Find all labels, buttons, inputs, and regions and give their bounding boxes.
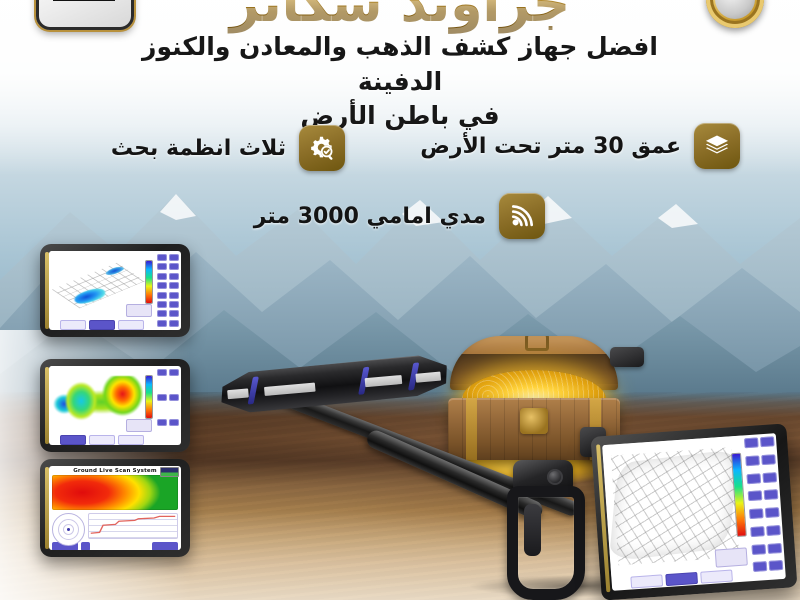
app-logo-icon: [160, 467, 179, 477]
keypad-key[interactable]: [745, 455, 760, 466]
plot-wrapper: [602, 435, 752, 590]
toolbar-button[interactable]: [60, 320, 86, 330]
grip-handle: [507, 486, 585, 600]
start-button[interactable]: [152, 542, 178, 550]
live-heatmap: [52, 475, 178, 510]
keypad-key[interactable]: [169, 310, 179, 317]
plot-wrapper: [49, 251, 155, 330]
toolbar-button[interactable]: [700, 569, 733, 583]
keypad-key[interactable]: [157, 263, 167, 270]
toolbar-button[interactable]: [89, 435, 115, 445]
keypad-key[interactable]: [762, 472, 777, 483]
keypad-key[interactable]: [169, 254, 179, 261]
chest-handle: [525, 336, 549, 351]
tablet-bottom-toolbar[interactable]: [49, 319, 155, 330]
live-readout-row: [52, 513, 178, 539]
tablet-screen: [49, 366, 181, 445]
keypad-key[interactable]: [769, 560, 784, 571]
toolbar-button[interactable]: [118, 320, 144, 330]
search-coil-bar: [217, 353, 450, 415]
radar-target-dot: [67, 528, 70, 531]
keypad-key[interactable]: [750, 526, 765, 537]
signal-waves-icon: [499, 193, 545, 239]
settings-button[interactable]: [81, 542, 90, 550]
color-scale-bar: [146, 261, 152, 303]
feature-label-depth: عمق 30 متر تحت الأرض: [420, 134, 681, 159]
keypad-key[interactable]: [765, 507, 780, 518]
keypad-key[interactable]: [169, 273, 179, 280]
keypad-key[interactable]: [169, 301, 179, 308]
keypad-key[interactable]: [748, 490, 763, 501]
keypad-key[interactable]: [157, 419, 167, 426]
plot-legend-box: [715, 547, 748, 567]
keypad-key[interactable]: [157, 282, 167, 289]
scan-plot-3d-main[interactable]: [602, 435, 751, 576]
keypad-key[interactable]: [157, 292, 167, 299]
plot-grid: [52, 263, 145, 309]
keypad-key[interactable]: [749, 508, 764, 519]
keypad-key[interactable]: [751, 544, 766, 555]
tablet-scan-rainbow[interactable]: [40, 359, 190, 452]
keypad-key[interactable]: [169, 369, 179, 376]
keypad-key[interactable]: [169, 263, 179, 270]
feature-label-systems: ثلاث انظمة بحث: [111, 136, 286, 161]
keypad-key[interactable]: [157, 310, 167, 317]
color-scale-bar: [732, 454, 746, 536]
keypad-key[interactable]: [157, 273, 167, 280]
feature-badge-depth: عمق 30 متر تحت الأرض: [420, 123, 740, 169]
tablet-screen: Ground Live Scan System: [49, 466, 181, 550]
keypad-key[interactable]: [157, 301, 167, 308]
tablet-screen: [602, 433, 786, 591]
keypad-key[interactable]: [746, 473, 761, 484]
tablet-scan-blue[interactable]: [40, 244, 190, 337]
headline-line-1: افضل جهاز كشف الذهب والمعادن والكنوز الد…: [110, 30, 690, 99]
plot-legend-box: [126, 419, 152, 432]
plot-wrapper: [49, 366, 155, 445]
keypad-key[interactable]: [744, 437, 759, 448]
gear-search-icon: [299, 125, 345, 171]
tablet-live-scan[interactable]: Ground Live Scan System: [40, 459, 190, 557]
metal-detector-device: [218, 355, 638, 600]
signal-line-chart[interactable]: [88, 513, 178, 539]
keypad-key[interactable]: [753, 561, 768, 572]
toolbar-button[interactable]: [630, 574, 663, 588]
keypad-key[interactable]: [766, 525, 781, 536]
pistol-grip: [503, 460, 577, 578]
feature-badge-systems: ثلاث انظمة بحث: [111, 125, 345, 171]
scan-plot-3d[interactable]: [49, 366, 155, 434]
keypad-key[interactable]: [169, 282, 179, 289]
tablet-main-display[interactable]: [591, 423, 798, 600]
feature-badge-range: مدي امامي 3000 متر: [254, 193, 545, 239]
tablet-keypad[interactable]: [155, 366, 181, 445]
keypad-key[interactable]: [767, 542, 782, 553]
brand-title: جراوند سكانر: [0, 0, 800, 34]
toolbar-button[interactable]: [118, 435, 144, 445]
keypad-key[interactable]: [169, 394, 179, 401]
color-scale-bar: [146, 376, 152, 418]
layers-icon: [694, 123, 740, 169]
plot-legend-box: [126, 304, 152, 317]
scan-plot-3d[interactable]: [49, 251, 155, 319]
keypad-key[interactable]: [169, 419, 179, 426]
keypad-key[interactable]: [157, 369, 167, 376]
keypad-key[interactable]: [760, 436, 775, 447]
toolbar-button-active[interactable]: [89, 320, 115, 330]
keypad-key[interactable]: [157, 394, 167, 401]
keypad-key[interactable]: [169, 320, 179, 327]
tablet-mount-upper: [610, 347, 644, 367]
tablet-keypad[interactable]: [155, 251, 181, 330]
keypad-key[interactable]: [761, 454, 776, 465]
keypad-key[interactable]: [157, 320, 167, 327]
poster-canvas: جراوند سكانر افضل جهاز كشف الذهب والمعاد…: [0, 0, 800, 600]
keypad-key[interactable]: [157, 254, 167, 261]
keypad-key[interactable]: [169, 292, 179, 299]
toolbar-button-active[interactable]: [665, 572, 698, 586]
keypad-key[interactable]: [764, 489, 779, 500]
tablet-screen: [49, 251, 181, 330]
grip-trigger[interactable]: [524, 504, 541, 556]
feature-label-range: مدي امامي 3000 متر: [254, 204, 486, 229]
toolbar-button-active[interactable]: [60, 435, 86, 445]
terrain-surface: [609, 448, 739, 561]
headline: افضل جهاز كشف الذهب والمعادن والكنوز الد…: [0, 30, 800, 134]
tablet-bottom-toolbar[interactable]: [49, 434, 155, 445]
